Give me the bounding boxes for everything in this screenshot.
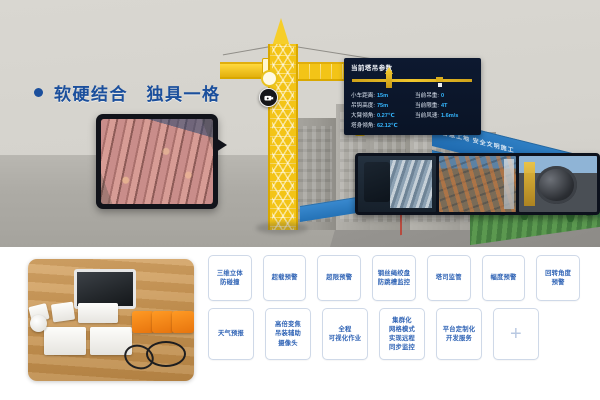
- param-value: 0: [441, 93, 444, 99]
- feature-tag[interactable]: 超限预警: [317, 255, 361, 301]
- kit-device: [51, 302, 75, 323]
- tag-line: 回转角度: [545, 269, 571, 278]
- cctv-camera-icon[interactable]: [259, 88, 278, 107]
- param-label: 塔身倾角:: [351, 121, 375, 129]
- tag-line: 摄像头: [275, 339, 301, 348]
- feature-tag[interactable]: 回转角度预警: [536, 255, 580, 301]
- param-item: 吊钩高度: 75m: [351, 101, 412, 109]
- kit-sensor-orange: [172, 311, 194, 333]
- feature-tag-row-1: 三维立体防碰撞 超载预警 超限预警 钢丝绳绞盘防跳槽监控 塔司监管 幅度预警: [208, 255, 580, 301]
- crane-base-shadow: [256, 222, 308, 234]
- param-item: 当前吊重: 0: [415, 91, 476, 99]
- kit-sensor-orange: [132, 311, 154, 333]
- page-title-text: 软硬结合 独具一格: [54, 80, 221, 105]
- feature-tag-grid: 三维立体防碰撞 超载预警 超限预警 钢丝绳绞盘防跳槽监控 塔司监管 幅度预警: [208, 255, 580, 367]
- feature-tag[interactable]: 集群化网格模式实现远程同步监控: [379, 308, 425, 360]
- feature-tag[interactable]: 高倍变焦吊装辅助摄像头: [265, 308, 311, 360]
- hardware-kit-photo: [28, 259, 194, 381]
- param-value: 15m: [377, 93, 388, 99]
- video-thumb-winch-drum[interactable]: [519, 156, 597, 212]
- param-label: 当前限重:: [415, 101, 439, 109]
- tag-line: 全程: [329, 325, 361, 334]
- tag-line: 塔司监管: [436, 273, 462, 282]
- add-feature-tag-button[interactable]: +: [493, 308, 539, 360]
- tag-line: 开发服务: [443, 334, 475, 343]
- feature-tag[interactable]: 天气预报: [208, 308, 254, 360]
- aerial-photo-callout[interactable]: [96, 114, 218, 209]
- param-value: 75m: [377, 103, 388, 109]
- kit-dome-camera: [30, 315, 47, 332]
- camera-feed-strip: [355, 153, 600, 215]
- parameter-grid: 小车距离: 15m 当前吊重: 0 吊钩高度: 75m 当前限重: 4T 大臂倾…: [351, 91, 476, 129]
- param-item: 小车距离: 15m: [351, 91, 412, 99]
- plus-icon: +: [510, 324, 522, 344]
- construction-scene: 智慧工地 安全文明施工 智慧工地 安全文明施工: [0, 0, 600, 247]
- crane-sensor-node: [261, 70, 278, 87]
- callout-pointer: [216, 138, 227, 152]
- feature-tag[interactable]: 三维立体防碰撞: [208, 255, 252, 301]
- bullet-icon: [34, 88, 43, 97]
- aerial-photo: [101, 119, 213, 204]
- tag-line: 可视化作业: [329, 334, 361, 343]
- param-label: 当前风速:: [415, 111, 439, 119]
- kit-device: [44, 327, 86, 355]
- kit-anemometer: [146, 341, 186, 367]
- tag-line: 预警: [545, 278, 571, 287]
- param-label: 大臂倾角:: [351, 111, 375, 119]
- tag-line: 幅度预警: [490, 273, 516, 282]
- feature-tag[interactable]: 平台定制化开发服务: [436, 308, 482, 360]
- mini-crane-diagram: [352, 71, 472, 89]
- page-title: 软硬结合 独具一格: [34, 80, 221, 105]
- feature-tag[interactable]: 超载预警: [263, 255, 307, 301]
- tag-line: 高倍变焦: [275, 320, 301, 329]
- param-label: 当前吊重:: [415, 91, 439, 99]
- kit-device: [78, 303, 118, 323]
- tag-line: 防碰撞: [217, 278, 243, 287]
- tag-line: 实现远程: [389, 334, 415, 343]
- feature-tag[interactable]: 塔司监管: [427, 255, 471, 301]
- param-value: 4T: [441, 103, 448, 109]
- param-item: 塔身倾角: 62.12℃: [351, 121, 412, 129]
- feature-tag[interactable]: 幅度预警: [482, 255, 526, 301]
- tag-line: 吊装辅助: [275, 329, 301, 338]
- tag-line: 超限预警: [326, 273, 352, 282]
- tag-line: 平台定制化: [443, 325, 475, 334]
- video-thumb-site-overview[interactable]: [439, 156, 517, 212]
- param-value: 1.6m/s: [441, 113, 458, 119]
- tag-line: 防跳槽监控: [378, 278, 410, 287]
- param-item: 大臂倾角: 0.27℃: [351, 111, 412, 119]
- param-value: 62.12℃: [377, 123, 398, 129]
- feature-tag[interactable]: 全程可视化作业: [322, 308, 368, 360]
- param-value: 0.27℃: [377, 113, 395, 119]
- tag-line: 网格模式: [389, 325, 415, 334]
- slide-root: 智慧工地 安全文明施工 智慧工地 安全文明施工: [0, 0, 600, 400]
- tag-line: 同步监控: [389, 343, 415, 352]
- param-label: 吊钩高度:: [351, 101, 375, 109]
- param-item: 当前限重: 4T: [415, 101, 476, 109]
- param-item: 当前风速: 1.6m/s: [415, 111, 476, 119]
- feature-tag-row-2: 天气预报 高倍变焦吊装辅助摄像头 全程可视化作业 集群化网格模式实现远程同步监控…: [208, 308, 580, 360]
- crane-parameters-panel: 当前塔吊参数 小车距离: 15m 当前吊重: 0 吊钩高度: 75m: [344, 58, 481, 135]
- param-label: 小车距离:: [351, 91, 375, 99]
- kit-sensor-orange: [152, 311, 174, 333]
- tag-line: 天气预报: [218, 329, 244, 338]
- feature-tag[interactable]: 钢丝绳绞盘防跳槽监控: [372, 255, 416, 301]
- video-thumb-operator-cabin[interactable]: [358, 156, 436, 212]
- tag-line: 超载预警: [272, 273, 298, 282]
- tag-line: 钢丝绳绞盘: [378, 269, 410, 278]
- features-panel: 三维立体防碰撞 超载预警 超限预警 钢丝绳绞盘防跳槽监控 塔司监管 幅度预警: [0, 247, 600, 400]
- tag-line: 三维立体: [217, 269, 243, 278]
- tag-line: 集群化: [389, 316, 415, 325]
